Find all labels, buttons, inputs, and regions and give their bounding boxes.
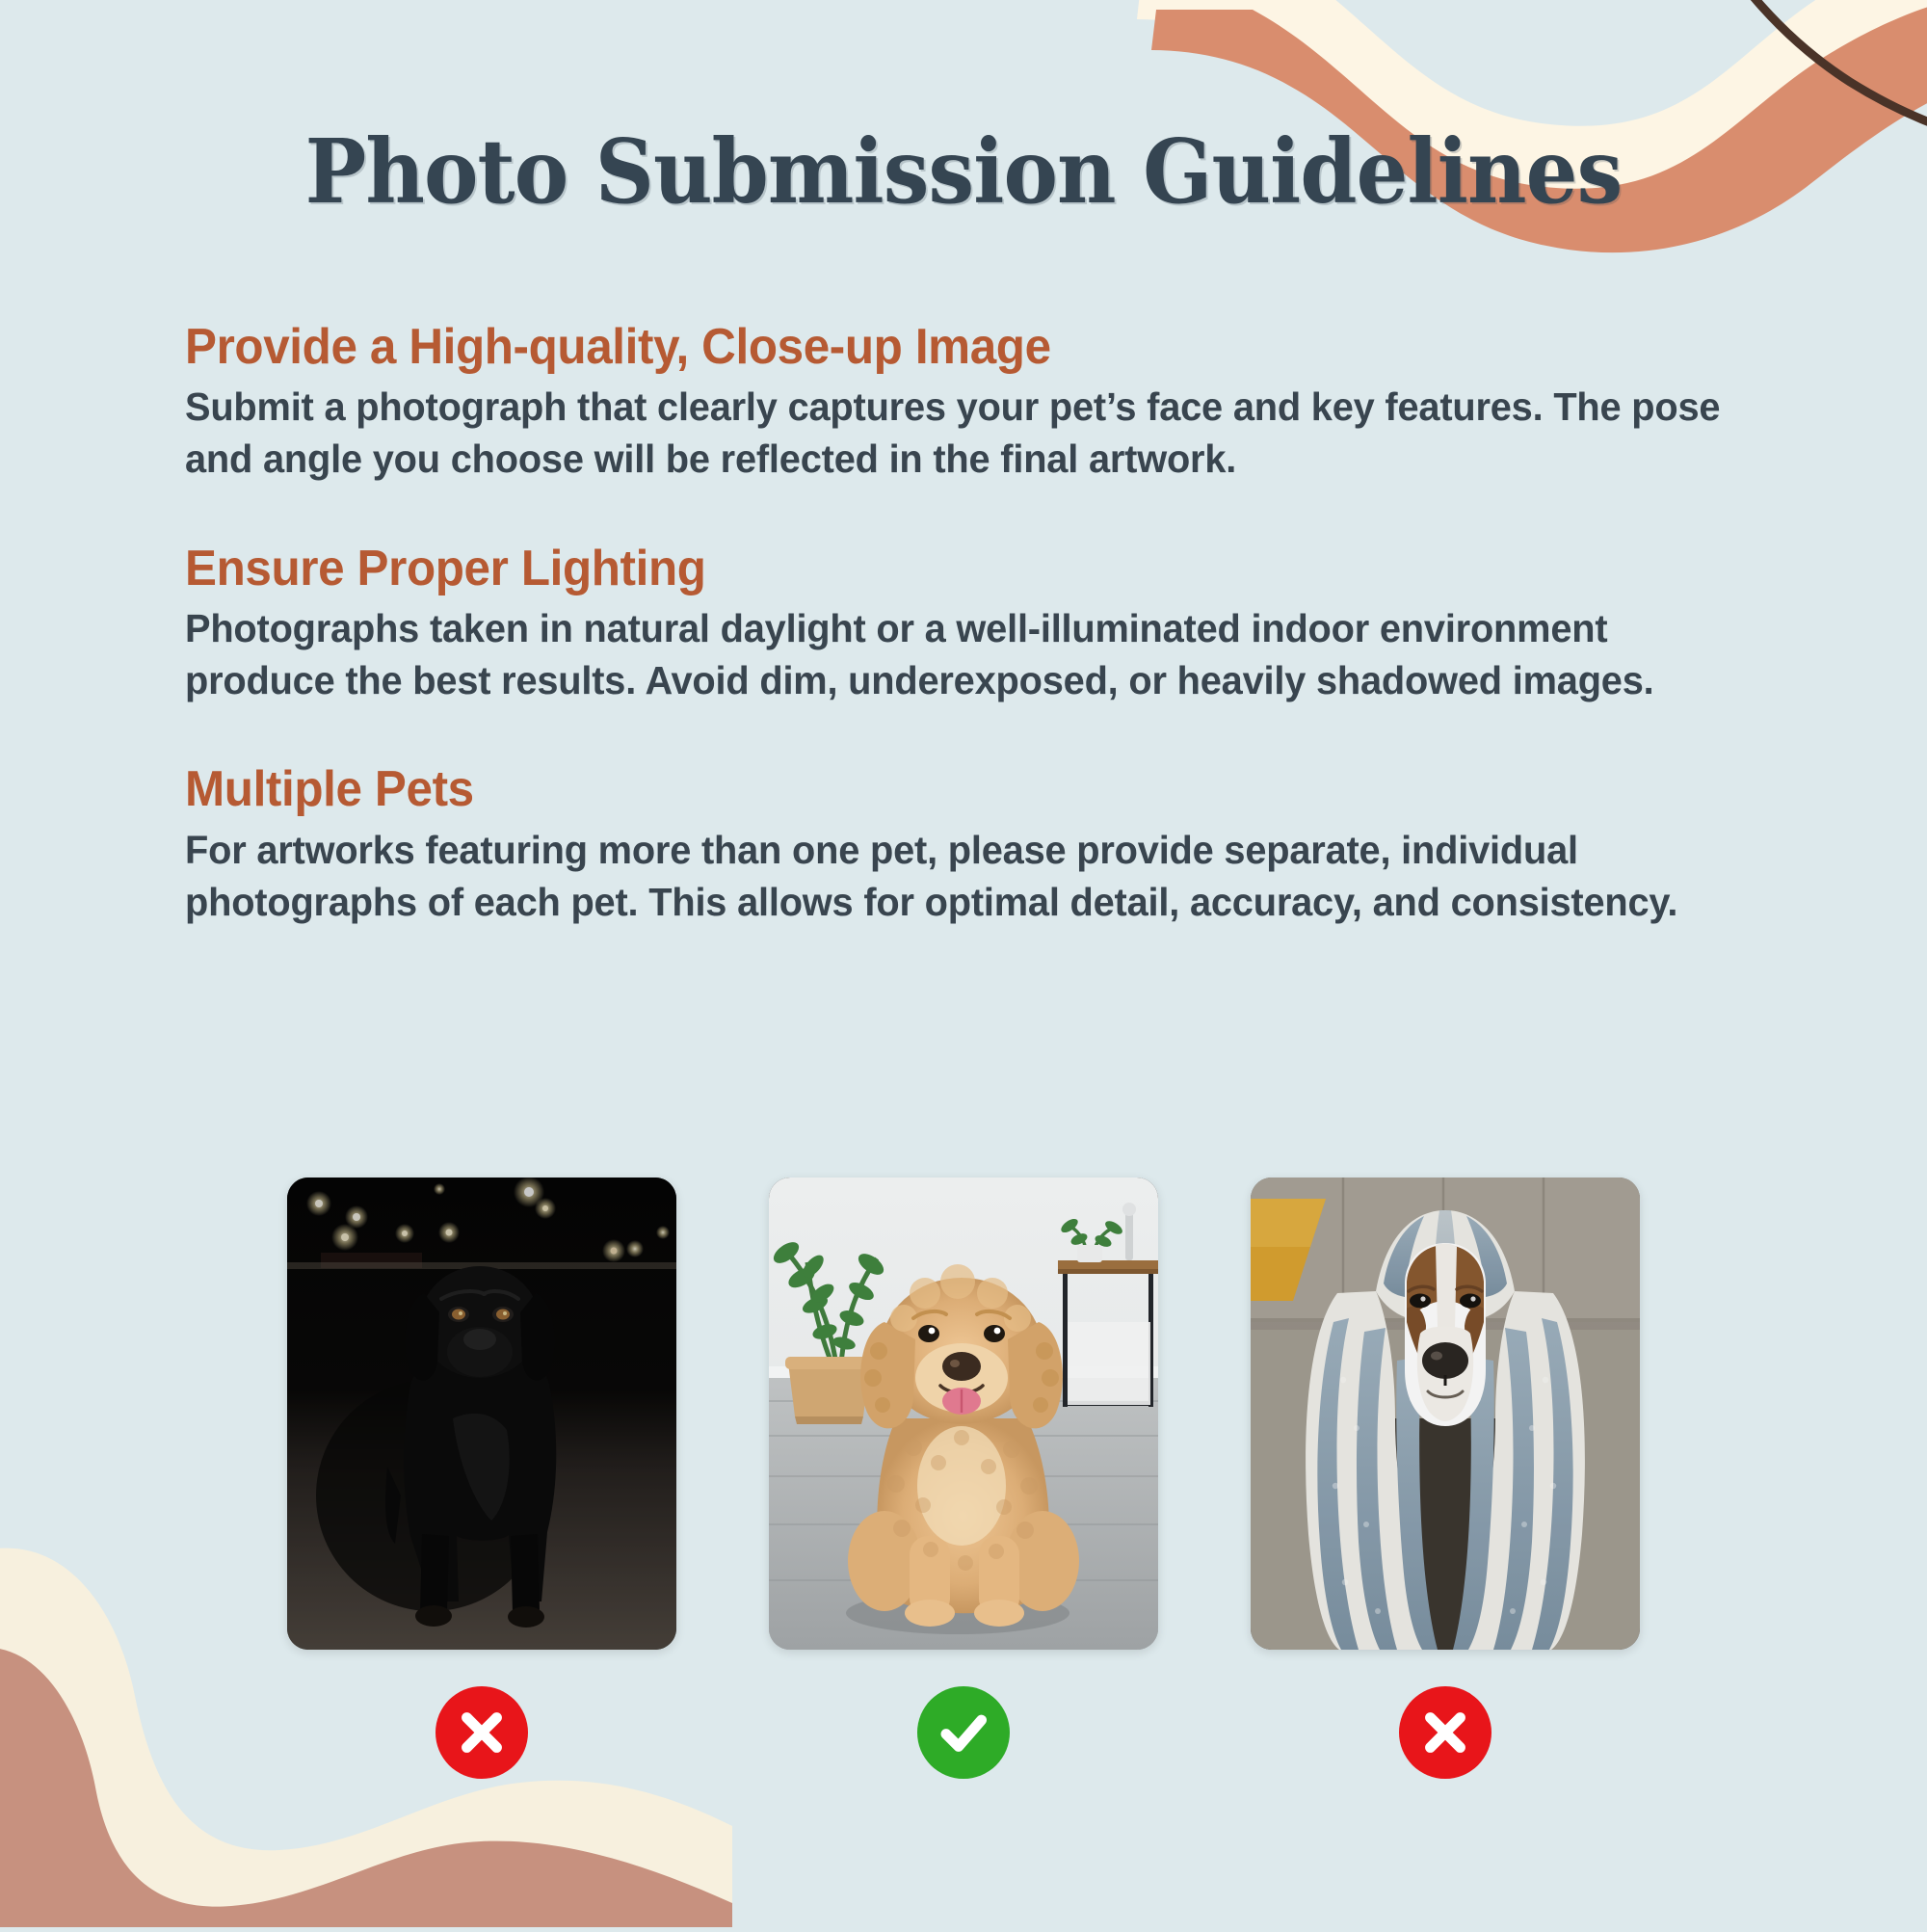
section-heading: Multiple Pets	[185, 760, 1741, 819]
example-item	[769, 1178, 1158, 1779]
cross-icon	[1399, 1686, 1491, 1779]
guidelines-sections: Provide a High-quality, Close-up Image S…	[185, 318, 1823, 982]
beagle-under-blanket-photo	[1251, 1178, 1640, 1650]
section-body: For artworks featuring more than one pet…	[185, 824, 1755, 928]
section-multiple-pets: Multiple Pets For artworks featuring mor…	[185, 760, 1823, 928]
example-item	[287, 1178, 676, 1779]
section-heading: Ensure Proper Lighting	[185, 540, 1741, 598]
cross-icon	[436, 1686, 528, 1779]
page-title: Photo Submission Guidelines	[77, 127, 1850, 216]
section-ensure-proper-lighting: Ensure Proper Lighting Photographs taken…	[185, 540, 1823, 707]
example-photos-row	[0, 1178, 1927, 1779]
example-item	[1251, 1178, 1640, 1779]
section-provide-high-quality-image: Provide a High-quality, Close-up Image S…	[185, 318, 1823, 486]
wave-brown-line	[1696, 0, 1927, 135]
guidelines-page: Photo Submission Guidelines Provide a Hi…	[0, 0, 1927, 1927]
goldendoodle-indoor-daylight-photo	[769, 1178, 1158, 1650]
black-labrador-at-night-photo	[287, 1178, 676, 1650]
section-heading: Provide a High-quality, Close-up Image	[185, 318, 1741, 377]
section-body: Submit a photograph that clearly capture…	[185, 381, 1755, 485]
section-body: Photographs taken in natural daylight or…	[185, 602, 1755, 706]
check-icon	[917, 1686, 1010, 1779]
